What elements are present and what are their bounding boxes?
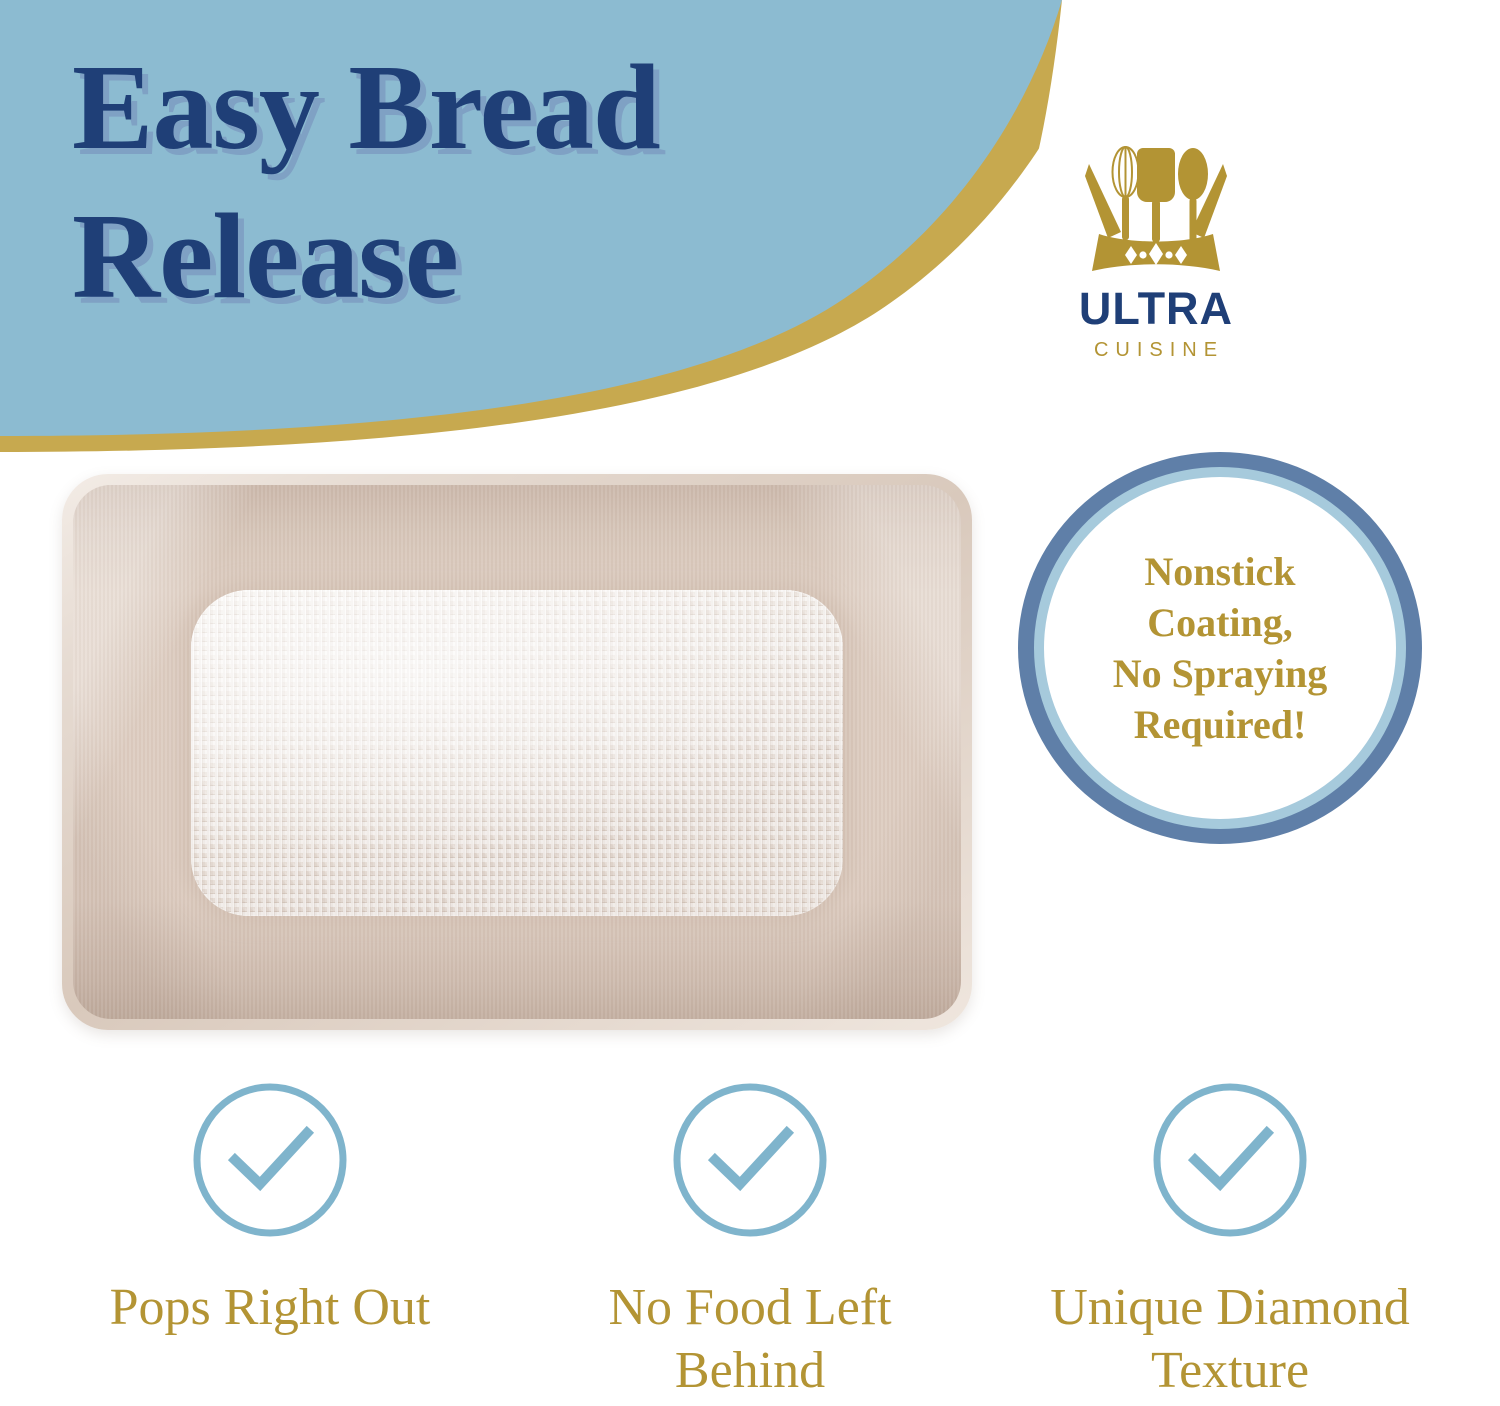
page-title: Easy Bread Release	[72, 34, 912, 332]
check-circle-icon	[1152, 1082, 1308, 1238]
feature-label: Pops Right Out	[110, 1276, 431, 1339]
check-circle-icon	[672, 1082, 828, 1238]
product-marketing-poster: Easy Bread Release	[0, 0, 1500, 1406]
feature-label: No Food Left Behind	[535, 1276, 965, 1403]
feature-item-pops-right-out: Pops Right Out	[30, 1082, 510, 1403]
headline-line-2: Release	[72, 183, 912, 332]
feature-list: Pops Right Out No Food Left Behind Uniqu…	[30, 1082, 1470, 1403]
product-image-loaf-pan	[62, 474, 972, 1030]
pan-base	[191, 590, 843, 916]
brand-logo: ULTRA CUISINE	[1058, 140, 1254, 360]
feature-label: Unique Diamond Texture	[1015, 1276, 1445, 1403]
nonstick-badge: Nonstick Coating, No Spraying Required!	[1018, 452, 1422, 844]
crown-utensils-icon	[1081, 140, 1231, 280]
feature-item-unique-diamond-texture: Unique Diamond Texture	[990, 1082, 1470, 1403]
check-circle-icon	[192, 1082, 348, 1238]
badge-text: Nonstick Coating, No Spraying Required!	[1113, 546, 1328, 751]
pan-wall	[73, 485, 961, 1019]
brand-name: ULTRA	[1058, 286, 1254, 331]
headline-line-1: Easy Bread	[72, 34, 912, 183]
brand-subtitle: CUISINE	[1058, 340, 1254, 360]
badge-face: Nonstick Coating, No Spraying Required!	[1058, 490, 1382, 806]
diamond-texture	[191, 590, 843, 916]
feature-item-no-food-left-behind: No Food Left Behind	[510, 1082, 990, 1403]
pan-rim	[62, 474, 972, 1030]
pan-base-sheen	[191, 590, 843, 916]
